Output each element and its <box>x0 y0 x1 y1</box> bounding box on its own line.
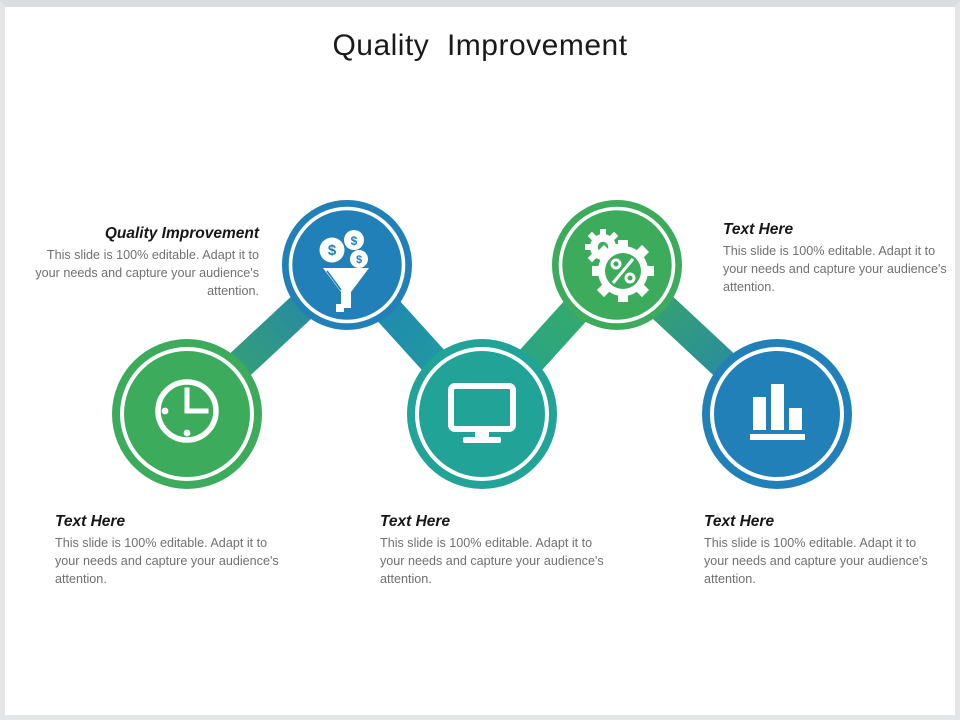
node-bar-chart[interactable] <box>702 339 852 489</box>
node-money-funnel-disc[interactable] <box>282 200 412 330</box>
slide-canvas: Quality Improvement <box>0 0 960 720</box>
text-block-top-left-body: This slide is 100% editable. Adapt it to… <box>27 247 259 301</box>
process-diagram: $ $ $ <box>5 7 955 719</box>
text-block-top-right-heading: Text Here <box>723 221 955 239</box>
text-block-top-left-heading: Quality Improvement <box>27 225 259 243</box>
text-block-bottom-left: Text Here This slide is 100% editable. A… <box>55 513 287 589</box>
node-monitor-disc[interactable] <box>407 339 557 489</box>
clock-icon <box>158 382 216 440</box>
text-block-top-right-body: This slide is 100% editable. Adapt it to… <box>723 243 955 297</box>
svg-text:$: $ <box>356 254 362 266</box>
node-money-funnel[interactable]: $ $ $ <box>282 200 412 330</box>
text-block-top-right: Text Here This slide is 100% editable. A… <box>723 221 955 297</box>
text-block-top-left: Quality Improvement This slide is 100% e… <box>27 225 259 301</box>
text-block-bottom-left-body: This slide is 100% editable. Adapt it to… <box>55 535 287 589</box>
node-gears-percent[interactable] <box>552 200 682 330</box>
text-block-bottom-left-heading: Text Here <box>55 513 287 531</box>
text-block-bottom-middle: Text Here This slide is 100% editable. A… <box>380 513 612 589</box>
svg-text:$: $ <box>328 242 337 259</box>
node-clock-disc[interactable] <box>112 339 262 489</box>
node-monitor[interactable] <box>407 339 557 489</box>
text-block-bottom-middle-body: This slide is 100% editable. Adapt it to… <box>380 535 612 589</box>
svg-text:$: $ <box>351 234 358 248</box>
node-clock[interactable] <box>112 339 262 489</box>
text-block-bottom-right-body: This slide is 100% editable. Adapt it to… <box>704 535 936 589</box>
text-block-bottom-middle-heading: Text Here <box>380 513 612 531</box>
text-block-bottom-right: Text Here This slide is 100% editable. A… <box>704 513 936 589</box>
text-block-bottom-right-heading: Text Here <box>704 513 936 531</box>
